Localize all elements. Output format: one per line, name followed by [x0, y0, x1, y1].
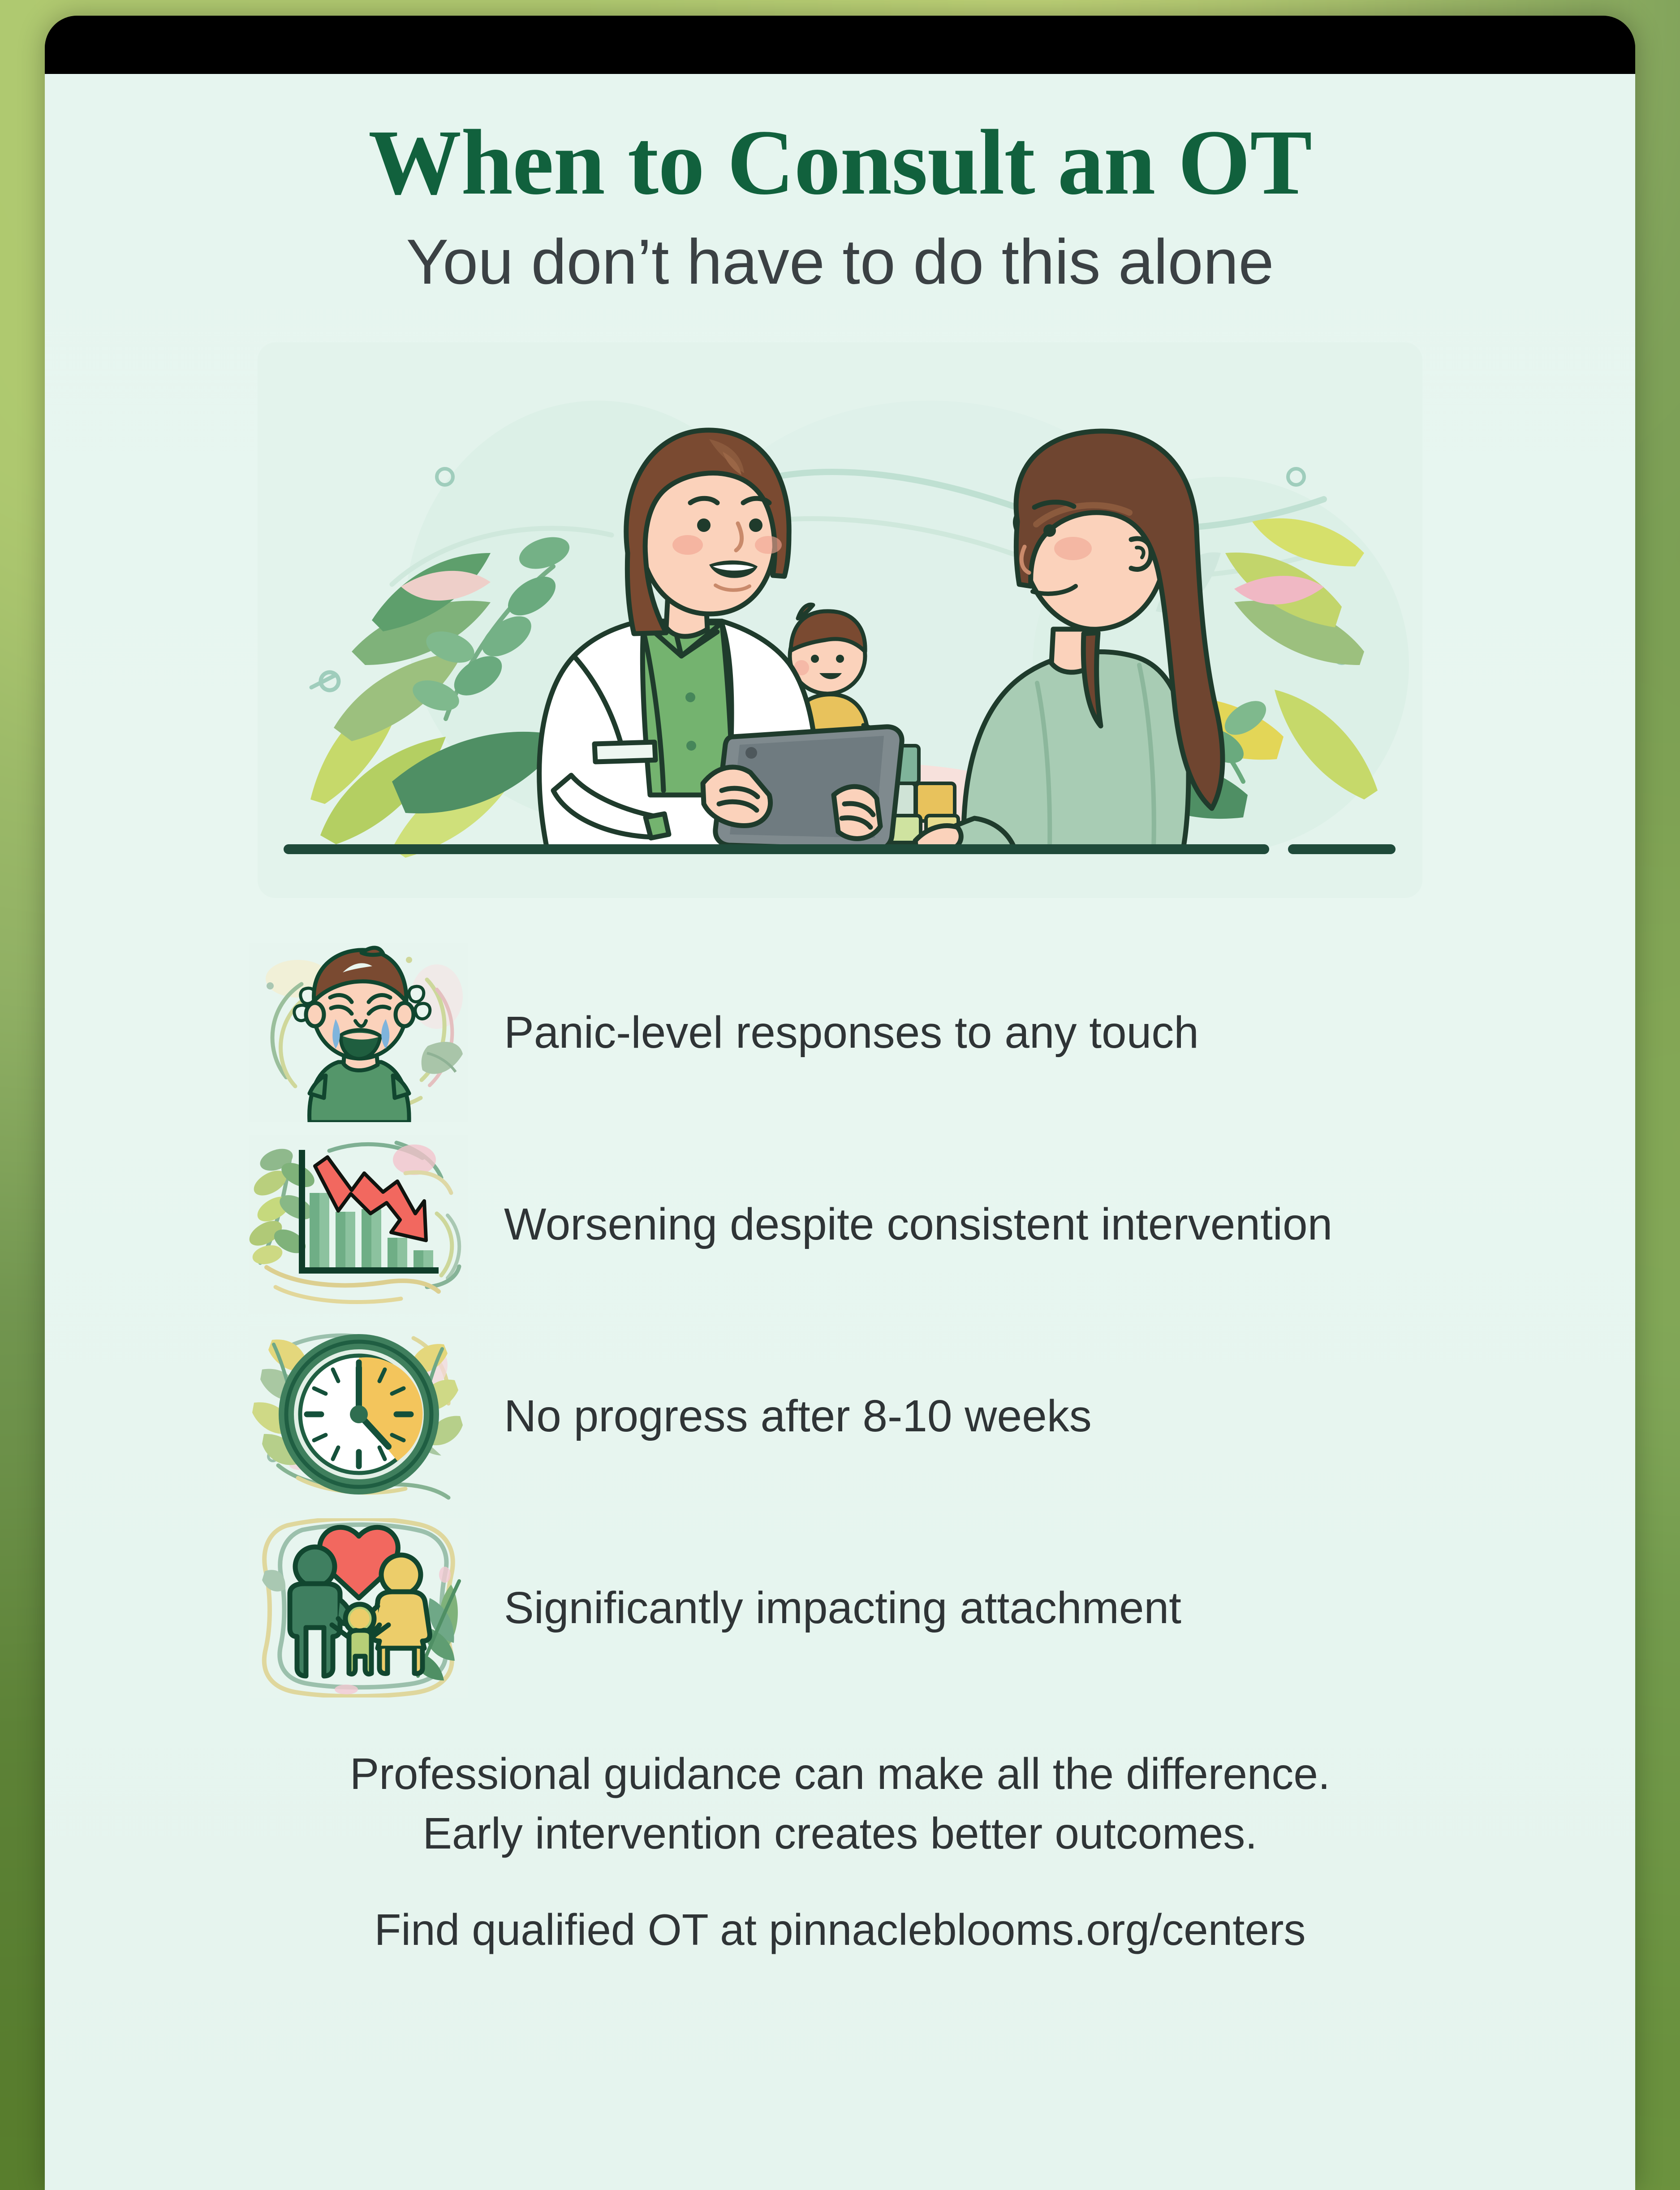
hero-illustration [258, 342, 1422, 898]
page-subtitle: You don’t have to do this alone [45, 227, 1635, 297]
status-bar [45, 16, 1635, 74]
list-item-label: Worsening despite consistent interventio… [504, 1199, 1332, 1249]
list-item-label: No progress after 8-10 weeks [504, 1391, 1092, 1441]
list-item: Worsening despite consistent interventio… [249, 1128, 1635, 1320]
footer-lead-line-1: Professional guidance can make all the d… [45, 1744, 1635, 1804]
page-title: When to Consult an OT [45, 113, 1635, 211]
footer-cta: Find qualified OT at pinnacleblooms.org/… [45, 1905, 1635, 1955]
footer-lead-line-2: Early intervention creates better outcom… [45, 1804, 1635, 1863]
list-item-label: Significantly impacting attachment [504, 1583, 1181, 1633]
family-attachment-icon [249, 1518, 468, 1698]
phone-card: When to Consult an OT You don’t have to … [45, 16, 1635, 2190]
clock-icon [249, 1326, 468, 1506]
crying-child-icon [249, 943, 468, 1122]
list-item: No progress after 8-10 weeks [249, 1320, 1635, 1512]
declining-chart-icon [249, 1135, 468, 1314]
warning-signs-list: Panic-level responses to any touch [45, 937, 1635, 1704]
infographic-page: When to Consult an OT You don’t have to … [45, 74, 1635, 2190]
list-item: Panic-level responses to any touch [249, 937, 1635, 1128]
list-item-label: Panic-level responses to any touch [504, 1007, 1199, 1058]
list-item: Significantly impacting attachment [249, 1512, 1635, 1704]
footer: Professional guidance can make all the d… [45, 1744, 1635, 1956]
